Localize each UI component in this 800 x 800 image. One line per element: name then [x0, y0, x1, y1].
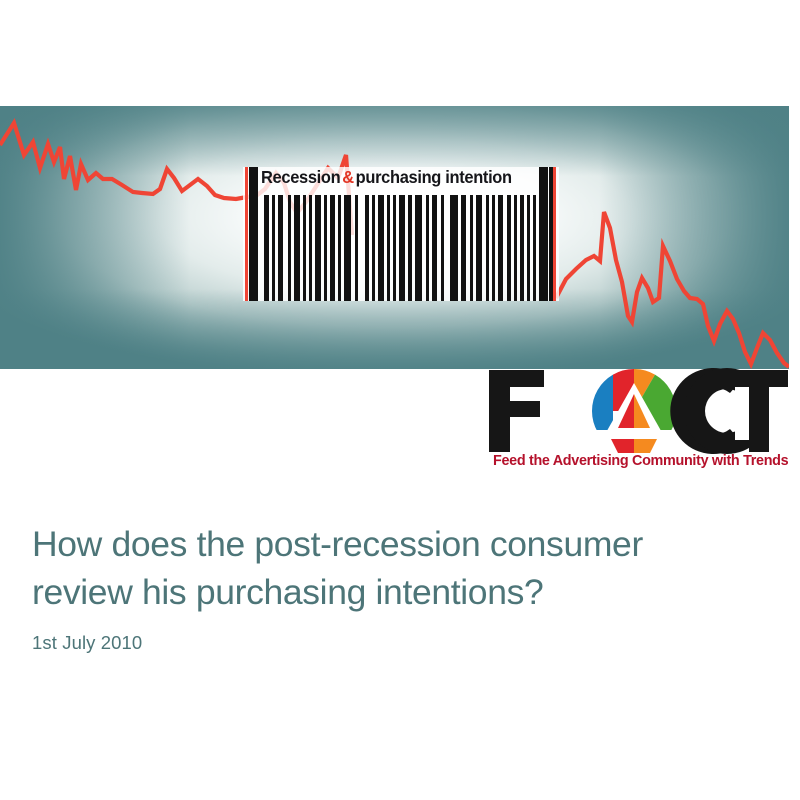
barcode-label-suffix: purchasing intention	[356, 167, 512, 188]
fact-wordmark	[487, 368, 790, 454]
fact-wordmark-svg	[487, 368, 790, 454]
fact-logo: Feed the Advertising Community with Tren…	[487, 368, 790, 478]
letter-f-glyph	[489, 370, 544, 452]
slide-date: 1st July 2010	[32, 632, 772, 654]
barcode-label: Recession & purchasing intention	[261, 165, 535, 190]
title-slide: Recession & purchasing intention	[0, 0, 800, 800]
barcode-label-prefix: Recession	[261, 167, 340, 188]
fact-tagline: Feed the Advertising Community with Tren…	[493, 453, 786, 469]
page-title: How does the post-recession consumer rev…	[32, 520, 772, 616]
circular-a-emblem	[587, 368, 681, 453]
title-block: How does the post-recession consumer rev…	[32, 520, 772, 654]
barcode-graphic: Recession & purchasing intention	[243, 165, 559, 301]
barcode-label-ampersand: &	[340, 167, 355, 188]
